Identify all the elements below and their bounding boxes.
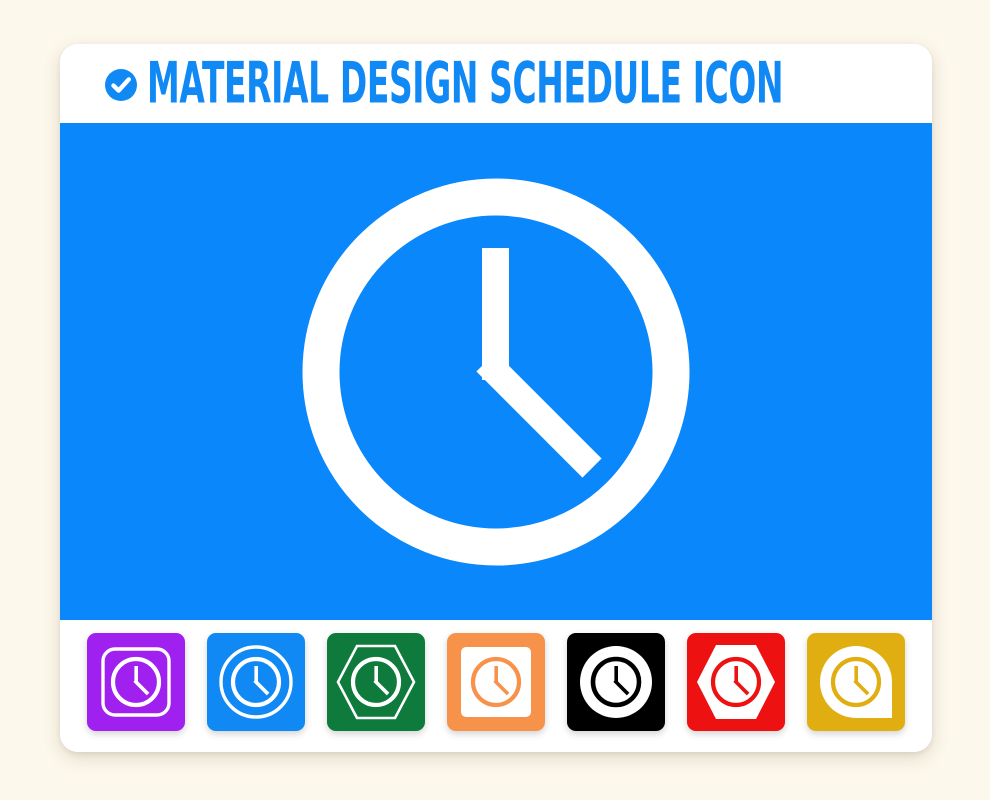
page-title: MATERIAL DESIGN SCHEDULE ICON <box>147 55 783 112</box>
clock-hexagon-inverted-icon <box>687 633 785 731</box>
hero-preview-panel <box>60 123 932 620</box>
clock-hexagon-outline-icon <box>327 633 425 731</box>
icon-preview-card: MATERIAL DESIGN SCHEDULE ICON <box>60 44 932 752</box>
check-circle-icon <box>104 68 138 102</box>
swatch-purple-rounded-square[interactable] <box>87 633 185 731</box>
clock-bubble-inverted-icon <box>807 633 905 731</box>
page-root: MATERIAL DESIGN SCHEDULE ICON <box>0 0 990 800</box>
swatch-yellow-bubble[interactable] <box>807 633 905 731</box>
schedule-clock-icon <box>286 162 706 582</box>
swatch-blue-circle[interactable] <box>207 633 305 731</box>
clock-circle-inverted-icon <box>567 633 665 731</box>
swatch-orange-square-inverted[interactable] <box>447 633 545 731</box>
swatch-green-hexagon[interactable] <box>327 633 425 731</box>
clock-square-inverted-icon <box>447 633 545 731</box>
swatch-red-hexagon-solid[interactable] <box>687 633 785 731</box>
swatch-black-circle-solid[interactable] <box>567 633 665 731</box>
clock-circle-outline-icon <box>207 633 305 731</box>
hero-clock-wrapper <box>286 162 706 582</box>
variant-swatch-strip <box>60 620 932 752</box>
clock-rounded-square-outline-icon <box>87 633 185 731</box>
card-header: MATERIAL DESIGN SCHEDULE ICON <box>60 44 932 123</box>
